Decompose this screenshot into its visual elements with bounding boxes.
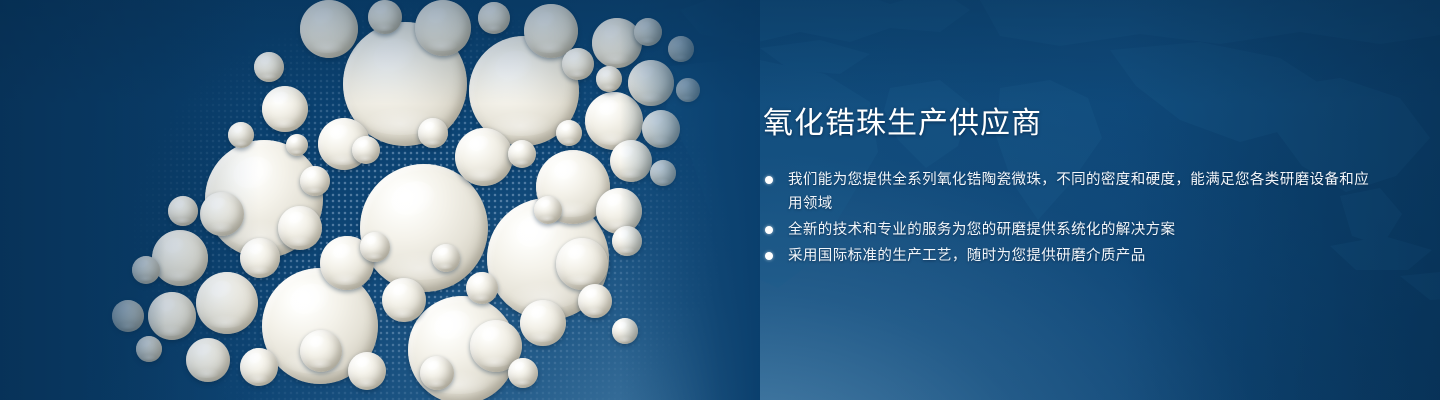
banner-copy-block: 氧化锆珠生产供应商 我们能为您提供全系列氧化锆陶瓷微珠，不同的密度和硬度，能满足… xyxy=(763,104,1383,270)
list-item: 我们能为您提供全系列氧化锆陶瓷微珠，不同的密度和硬度，能满足您各类研磨设备和应用… xyxy=(763,168,1383,216)
bullet-text: 我们能为您提供全系列氧化锆陶瓷微珠，不同的密度和硬度，能满足您各类研磨设备和应用… xyxy=(788,168,1383,216)
bullet-text: 采用国际标准的生产工艺，随时为您提供研磨介质产品 xyxy=(788,244,1383,268)
list-item: 全新的技术和专业的服务为您的研磨提供系统化的解决方案 xyxy=(763,218,1383,242)
bullet-dot-icon xyxy=(765,176,773,184)
banner-bullet-list: 我们能为您提供全系列氧化锆陶瓷微珠，不同的密度和硬度，能满足您各类研磨设备和应用… xyxy=(763,168,1383,268)
bullet-text: 全新的技术和专业的服务为您的研磨提供系统化的解决方案 xyxy=(788,218,1383,242)
hero-banner: 氧化锆珠生产供应商 我们能为您提供全系列氧化锆陶瓷微珠，不同的密度和硬度，能满足… xyxy=(0,0,1440,400)
banner-headline: 氧化锆珠生产供应商 xyxy=(763,104,1383,144)
bullet-dot-icon xyxy=(765,252,773,260)
list-item: 采用国际标准的生产工艺，随时为您提供研磨介质产品 xyxy=(763,244,1383,268)
bullet-dot-icon xyxy=(765,226,773,234)
